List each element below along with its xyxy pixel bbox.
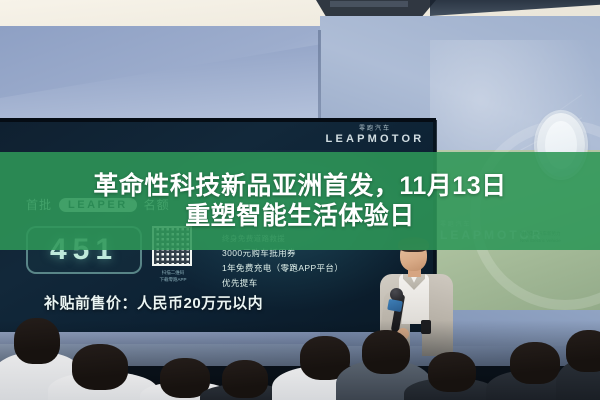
microphone-badge [387,299,403,312]
headline-title: 革命性科技新品亚洲首发，11月13日 重塑智能生活体验日 [0,152,600,250]
audience-member-head [510,342,560,384]
audience-member-head [362,330,410,374]
led-screen-top-bezel [0,118,436,122]
headline-line-2: 重塑智能生活体验日 [185,201,415,232]
audience-member-head [428,352,476,392]
price-statement: 补贴前售价：人民币20万元以内 [44,292,344,313]
headline-line-1: 革命性科技新品亚洲首发，11月13日 [93,171,506,202]
brand-name-cn: 零跑汽车 [320,126,430,133]
audience-member-head [566,330,600,372]
brand-name-en: LEAPMOTOR [320,133,430,145]
leapmotor-logo-on-screen: 零跑汽车 LEAPMOTOR [320,126,430,145]
ceiling-vent-bar [330,1,408,7]
audience-member-head [14,318,60,364]
screenshot-stage: 零跑汽车 LEAPMOTOR 首批 LEAPER 名额 451 扫描二维码 下载… [0,0,600,400]
qr-caption-line-1: 扫描二维码 [146,270,200,277]
qr-code-caption: 扫描二维码 下载零跑APP [146,270,200,284]
audience-member-head [222,360,268,398]
audience-member-head [72,344,128,390]
qr-caption-line-2: 下载零跑APP [146,277,200,284]
